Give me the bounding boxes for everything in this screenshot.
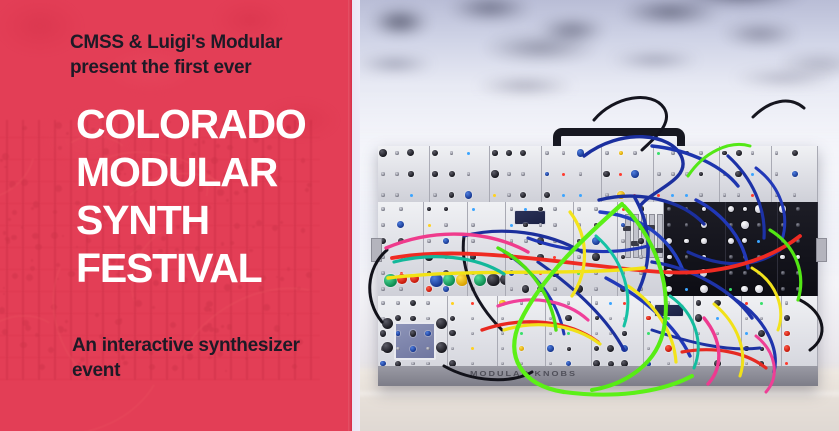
patch-jack-icon	[605, 151, 608, 154]
status-led-icon	[471, 347, 474, 350]
patch-jack-icon	[471, 287, 474, 290]
patch-jack-icon	[381, 207, 384, 210]
patch-jack-icon	[757, 223, 760, 226]
rotary-knob-icon	[741, 286, 748, 293]
patch-jack-icon	[426, 317, 429, 320]
status-led-icon	[760, 302, 763, 305]
rotary-knob-icon	[796, 255, 800, 259]
patch-jack-icon	[426, 362, 429, 365]
patch-jack-icon	[395, 151, 398, 154]
patch-jack-icon	[567, 301, 570, 304]
patch-jack-icon	[647, 347, 650, 350]
module-display-icon	[394, 322, 436, 360]
synth-module	[506, 202, 574, 296]
patch-jack-icon	[427, 239, 430, 242]
patch-jack-icon	[745, 362, 748, 365]
rotary-knob-icon	[695, 314, 703, 322]
patch-jack-icon	[395, 172, 398, 175]
synth-module	[574, 202, 618, 296]
rotary-knob-icon	[425, 253, 432, 260]
patch-jack-icon	[723, 193, 726, 196]
rotary-knob-icon	[407, 149, 414, 156]
synth-module	[772, 146, 818, 202]
patch-jack-icon	[396, 301, 399, 304]
eurorack-case	[378, 146, 818, 386]
patch-jack-icon	[381, 271, 384, 274]
rotary-knob-icon	[450, 316, 455, 321]
patch-jack-icon	[579, 172, 582, 175]
patch-jack-icon	[501, 332, 504, 335]
rotary-knob-icon	[509, 270, 515, 276]
rotary-knob-icon	[548, 301, 552, 305]
rotary-knob-icon	[456, 274, 468, 286]
patch-jack-icon	[577, 255, 580, 258]
rotary-knob-icon	[758, 330, 765, 337]
rotary-knob-icon	[779, 205, 786, 212]
status-led-icon	[633, 194, 636, 197]
snow-ridge-line	[352, 392, 839, 395]
rotary-knob-icon	[432, 150, 438, 156]
patch-jack-icon	[796, 271, 799, 274]
synth-module	[430, 146, 490, 202]
status-led-icon	[493, 194, 496, 197]
rotary-knob-icon	[665, 345, 672, 352]
status-led-icon	[716, 317, 719, 320]
patch-jack-icon	[381, 301, 384, 304]
patch-jack-icon	[471, 362, 474, 365]
module-slider	[657, 214, 663, 258]
rotary-knob-icon	[667, 255, 672, 260]
rotary-knob-icon	[701, 222, 707, 228]
patch-jack-icon	[781, 271, 784, 274]
synth-module	[542, 146, 602, 202]
rotary-knob-icon	[408, 171, 413, 176]
rotary-knob-icon	[728, 206, 735, 213]
rotary-knob-icon	[487, 274, 499, 286]
rotary-knob-icon	[492, 150, 497, 155]
status-led-icon	[562, 173, 565, 176]
rotary-knob-icon	[499, 300, 506, 307]
synth-module	[654, 146, 720, 202]
patch-jack-icon	[623, 317, 626, 320]
patch-jack-icon	[657, 172, 660, 175]
status-led-icon	[472, 208, 475, 211]
rotary-knob-icon	[736, 150, 742, 156]
patch-jack-icon	[471, 271, 474, 274]
rotary-knob-icon	[702, 207, 706, 211]
status-led-icon	[745, 302, 748, 305]
patch-jack-icon	[444, 223, 447, 226]
rotary-knob-icon	[379, 149, 387, 157]
patch-jack-icon	[716, 332, 719, 335]
status-led-icon	[623, 302, 626, 305]
patch-jack-icon	[501, 347, 504, 350]
rotary-knob-icon	[443, 286, 449, 292]
patch-jack-icon	[553, 239, 556, 242]
rotary-knob-icon	[444, 207, 449, 212]
rotary-knob-icon	[509, 254, 515, 260]
patch-jack-icon	[577, 207, 580, 210]
rotary-knob-icon	[436, 342, 447, 353]
status-led-icon	[685, 288, 688, 291]
patch-jack-icon	[621, 271, 624, 274]
patch-jack-icon	[549, 332, 552, 335]
patch-jack-icon	[467, 172, 470, 175]
patch-jack-icon	[775, 193, 778, 196]
patch-jack-icon	[501, 362, 504, 365]
patch-jack-icon	[605, 193, 608, 196]
patch-jack-icon	[545, 151, 548, 154]
patch-jack-icon	[381, 172, 384, 175]
status-led-icon	[510, 224, 513, 227]
patch-jack-icon	[685, 207, 688, 210]
page-title: COLORADO MODULAR SYNTH FESTIVAL	[76, 100, 356, 292]
rotary-knob-icon	[465, 191, 473, 199]
patch-jack-icon	[381, 223, 384, 226]
rotary-knob-icon	[443, 238, 449, 244]
rotary-knob-icon	[470, 254, 476, 260]
patch-jack-icon	[697, 332, 700, 335]
status-led-icon	[622, 208, 625, 211]
status-led-icon	[467, 152, 470, 155]
patch-jack-icon	[685, 255, 688, 258]
patch-jack-icon	[781, 223, 784, 226]
status-led-icon	[567, 332, 570, 335]
rotary-knob-icon	[551, 269, 559, 277]
rotary-knob-icon	[646, 301, 651, 306]
rotary-knob-icon	[784, 331, 790, 337]
rotary-knob-icon	[700, 269, 707, 276]
case-brand-label: MODULAR KNOBS	[470, 369, 660, 380]
patch-jack-icon	[667, 362, 670, 365]
patch-jack-icon	[553, 207, 556, 210]
rotary-knob-icon	[621, 345, 629, 353]
rotary-knob-icon	[382, 318, 393, 329]
headline-line-2: MODULAR	[76, 148, 356, 196]
rotary-knob-icon	[594, 223, 598, 227]
patch-jack-icon	[553, 223, 556, 226]
rotary-knob-icon	[443, 274, 455, 286]
patch-jack-icon	[471, 317, 474, 320]
rotary-knob-icon	[639, 206, 644, 211]
patch-jack-icon	[757, 271, 760, 274]
rotary-knob-icon	[755, 205, 762, 212]
rotary-knob-icon	[620, 286, 626, 292]
rotary-knob-icon	[595, 316, 599, 320]
patch-jack-icon	[796, 223, 799, 226]
patch-jack-icon	[775, 151, 778, 154]
rotary-knob-icon	[665, 269, 672, 276]
status-led-icon	[657, 194, 660, 197]
patch-jack-icon	[450, 151, 453, 154]
rotary-knob-icon	[506, 150, 512, 156]
patch-jack-icon	[639, 255, 642, 258]
patch-jack-icon	[539, 223, 542, 226]
patch-jack-icon	[633, 151, 636, 154]
rotary-knob-icon	[538, 207, 542, 211]
patch-jack-icon	[595, 301, 598, 304]
patch-jack-icon	[667, 301, 670, 304]
patch-jack-icon	[667, 207, 670, 210]
rotary-knob-icon	[780, 255, 785, 260]
synth-module	[726, 202, 778, 296]
rotary-knob-icon	[638, 238, 643, 243]
rotary-knob-icon	[784, 345, 790, 351]
patch-jack-icon	[594, 207, 597, 210]
rotary-knob-icon	[603, 171, 610, 178]
rotary-knob-icon	[544, 192, 550, 198]
status-led-icon	[539, 272, 542, 275]
patch-jack-icon	[685, 172, 688, 175]
rotary-knob-icon	[755, 285, 762, 292]
synth-module	[424, 202, 468, 296]
module-slider	[633, 214, 639, 258]
patch-jack-icon	[507, 193, 510, 196]
status-led-icon	[520, 317, 523, 320]
rotary-knob-icon	[741, 221, 748, 228]
rotary-knob-icon	[520, 150, 526, 156]
rotary-knob-icon	[575, 285, 582, 292]
patch-jack-icon	[743, 255, 746, 258]
module-row	[378, 202, 818, 296]
status-led-icon	[729, 288, 732, 291]
patch-jack-icon	[471, 332, 474, 335]
rotary-knob-icon	[631, 170, 639, 178]
synth-module	[720, 146, 772, 202]
patch-jack-icon	[667, 332, 670, 335]
status-led-icon	[451, 302, 454, 305]
rotary-knob-icon	[622, 331, 626, 335]
status-led-icon	[619, 173, 622, 176]
patch-jack-icon	[444, 255, 447, 258]
rotary-knob-icon	[523, 223, 528, 228]
patch-jack-icon	[697, 347, 700, 350]
rotary-knob-icon	[430, 274, 443, 287]
status-led-icon	[785, 362, 788, 365]
patch-jack-icon	[426, 347, 429, 350]
rotary-knob-icon	[410, 300, 416, 306]
rotary-knob-icon	[427, 207, 431, 211]
rotary-knob-icon	[728, 238, 734, 244]
patch-jack-icon	[751, 151, 754, 154]
rotary-knob-icon	[714, 300, 720, 306]
synth-module	[778, 202, 818, 296]
rotary-knob-icon	[449, 171, 455, 177]
patch-jack-icon	[793, 193, 796, 196]
status-led-icon	[524, 256, 527, 259]
rotary-knob-icon	[395, 315, 401, 321]
rotary-knob-icon	[567, 347, 571, 351]
rotary-knob-icon	[426, 286, 432, 292]
rotary-knob-icon	[666, 286, 672, 292]
rotary-knob-icon	[594, 346, 600, 352]
rotary-knob-icon	[577, 239, 582, 244]
patch-jack-icon	[471, 239, 474, 242]
synth-module	[378, 146, 430, 202]
synth-module	[602, 146, 654, 202]
status-led-icon	[609, 302, 612, 305]
subtitle-text: An interactive synthesizer event	[72, 333, 352, 383]
patch-jack-icon	[671, 172, 674, 175]
patch-jack-icon	[510, 239, 513, 242]
rotary-knob-icon	[565, 315, 571, 321]
rotary-knob-icon	[792, 171, 798, 177]
status-led-icon	[428, 224, 431, 227]
patch-jack-icon	[781, 287, 784, 290]
status-led-icon	[657, 152, 660, 155]
rotary-knob-icon	[410, 316, 415, 321]
status-led-icon	[400, 256, 403, 259]
patch-jack-icon	[757, 255, 760, 258]
patch-jack-icon	[433, 193, 436, 196]
module-slider	[625, 214, 631, 258]
case-foot-right	[816, 238, 827, 262]
patch-jack-icon	[595, 332, 598, 335]
patch-jack-icon	[723, 172, 726, 175]
patch-jack-icon	[685, 271, 688, 274]
rotary-knob-icon	[701, 238, 706, 243]
module-slider	[641, 214, 647, 258]
status-led-icon	[577, 272, 580, 275]
patch-jack-icon	[411, 362, 414, 365]
patch-jack-icon	[426, 301, 429, 304]
patch-jack-icon	[729, 255, 732, 258]
patch-jack-icon	[381, 287, 384, 290]
patch-jack-icon	[381, 193, 384, 196]
rotary-knob-icon	[592, 237, 600, 245]
rotary-knob-icon	[425, 331, 431, 337]
status-led-icon	[716, 347, 719, 350]
patch-jack-icon	[667, 223, 670, 226]
patch-jack-icon	[521, 172, 524, 175]
rotary-knob-icon	[537, 237, 544, 244]
patch-jack-icon	[507, 172, 510, 175]
rotary-knob-icon	[666, 238, 672, 244]
module-display-icon	[654, 304, 684, 317]
patch-jack-icon	[594, 271, 597, 274]
status-led-icon	[562, 194, 565, 197]
patch-jack-icon	[524, 271, 527, 274]
patch-jack-icon	[399, 287, 402, 290]
patch-jack-icon	[729, 271, 732, 274]
rotary-knob-icon	[784, 315, 790, 321]
rotary-knob-icon	[436, 318, 447, 329]
module-row	[378, 146, 818, 202]
rotary-knob-icon	[792, 150, 798, 156]
synth-module	[378, 202, 424, 296]
rotary-knob-icon	[520, 192, 526, 198]
rotary-knob-icon	[621, 255, 625, 259]
rotary-knob-icon	[410, 330, 417, 337]
rotary-knob-icon	[592, 253, 599, 260]
rotary-knob-icon	[760, 347, 764, 351]
eyebrow-text: CMSS & Luigi's Modular present the first…	[70, 30, 350, 80]
rotary-knob-icon	[699, 172, 703, 176]
rotary-knob-icon	[547, 345, 554, 352]
patch-jack-icon	[796, 207, 799, 210]
status-led-icon	[667, 317, 670, 320]
status-led-icon	[751, 173, 754, 176]
patch-jack-icon	[775, 172, 778, 175]
patch-jack-icon	[510, 207, 513, 210]
patch-jack-icon	[671, 151, 674, 154]
rotary-knob-icon	[607, 345, 615, 353]
status-led-icon	[751, 194, 754, 197]
rotary-knob-icon	[397, 221, 404, 228]
patch-jack-icon	[520, 301, 523, 304]
headline-line-4: FESTIVAL	[76, 244, 356, 292]
rotary-knob-icon	[744, 346, 748, 350]
patch-jack-icon	[699, 151, 702, 154]
rotary-knob-icon	[722, 151, 727, 156]
status-led-icon	[553, 256, 556, 259]
status-led-icon	[671, 194, 674, 197]
patch-jack-icon	[549, 317, 552, 320]
patch-jack-icon	[553, 287, 556, 290]
rotary-knob-icon	[410, 274, 419, 283]
status-led-icon	[757, 240, 760, 243]
patch-jack-icon	[729, 223, 732, 226]
rotary-knob-icon	[545, 172, 550, 177]
rotary-knob-icon	[474, 274, 486, 286]
patch-jack-icon	[471, 223, 474, 226]
patch-jack-icon	[395, 193, 398, 196]
patch-jack-icon	[451, 347, 454, 350]
rotary-knob-icon	[519, 346, 524, 351]
patch-jack-icon	[697, 362, 700, 365]
headline-line-3: SYNTH	[76, 196, 356, 244]
rotary-knob-icon	[646, 316, 651, 321]
rotary-knob-icon	[410, 346, 416, 352]
patch-jack-icon	[524, 239, 527, 242]
headline-line-1: COLORADO	[76, 100, 356, 148]
patch-jack-icon	[785, 301, 788, 304]
rotary-knob-icon	[396, 331, 401, 336]
patch-jack-icon	[609, 332, 612, 335]
rotary-knob-icon	[537, 254, 544, 261]
patch-jack-icon	[685, 223, 688, 226]
rotary-knob-icon	[449, 330, 455, 336]
rotary-knob-icon	[384, 274, 397, 287]
rotary-knob-icon	[432, 171, 437, 176]
rotary-knob-icon	[397, 274, 407, 284]
rotary-knob-icon	[684, 239, 688, 243]
status-led-icon	[520, 332, 523, 335]
status-led-icon	[410, 194, 413, 197]
rotary-knob-icon	[696, 300, 701, 305]
synth-module	[490, 146, 542, 202]
patch-jack-icon	[699, 193, 702, 196]
patch-jack-icon	[609, 317, 612, 320]
patch-jack-icon	[639, 223, 642, 226]
status-led-icon	[745, 332, 748, 335]
case-foot-left	[371, 238, 382, 262]
status-led-icon	[579, 194, 582, 197]
patch-jack-icon	[520, 362, 523, 365]
rotary-knob-icon	[522, 285, 529, 292]
rotary-knob-icon	[427, 271, 432, 276]
patch-jack-icon	[621, 239, 624, 242]
rotary-knob-icon	[382, 342, 393, 353]
patch-jack-icon	[760, 317, 763, 320]
patch-jack-icon	[737, 193, 740, 196]
patch-jack-icon	[639, 287, 642, 290]
synth-module	[468, 202, 506, 296]
patch-jack-icon	[510, 287, 513, 290]
status-led-icon	[647, 332, 650, 335]
rotary-knob-icon	[700, 285, 708, 293]
rotary-knob-icon	[380, 330, 386, 336]
